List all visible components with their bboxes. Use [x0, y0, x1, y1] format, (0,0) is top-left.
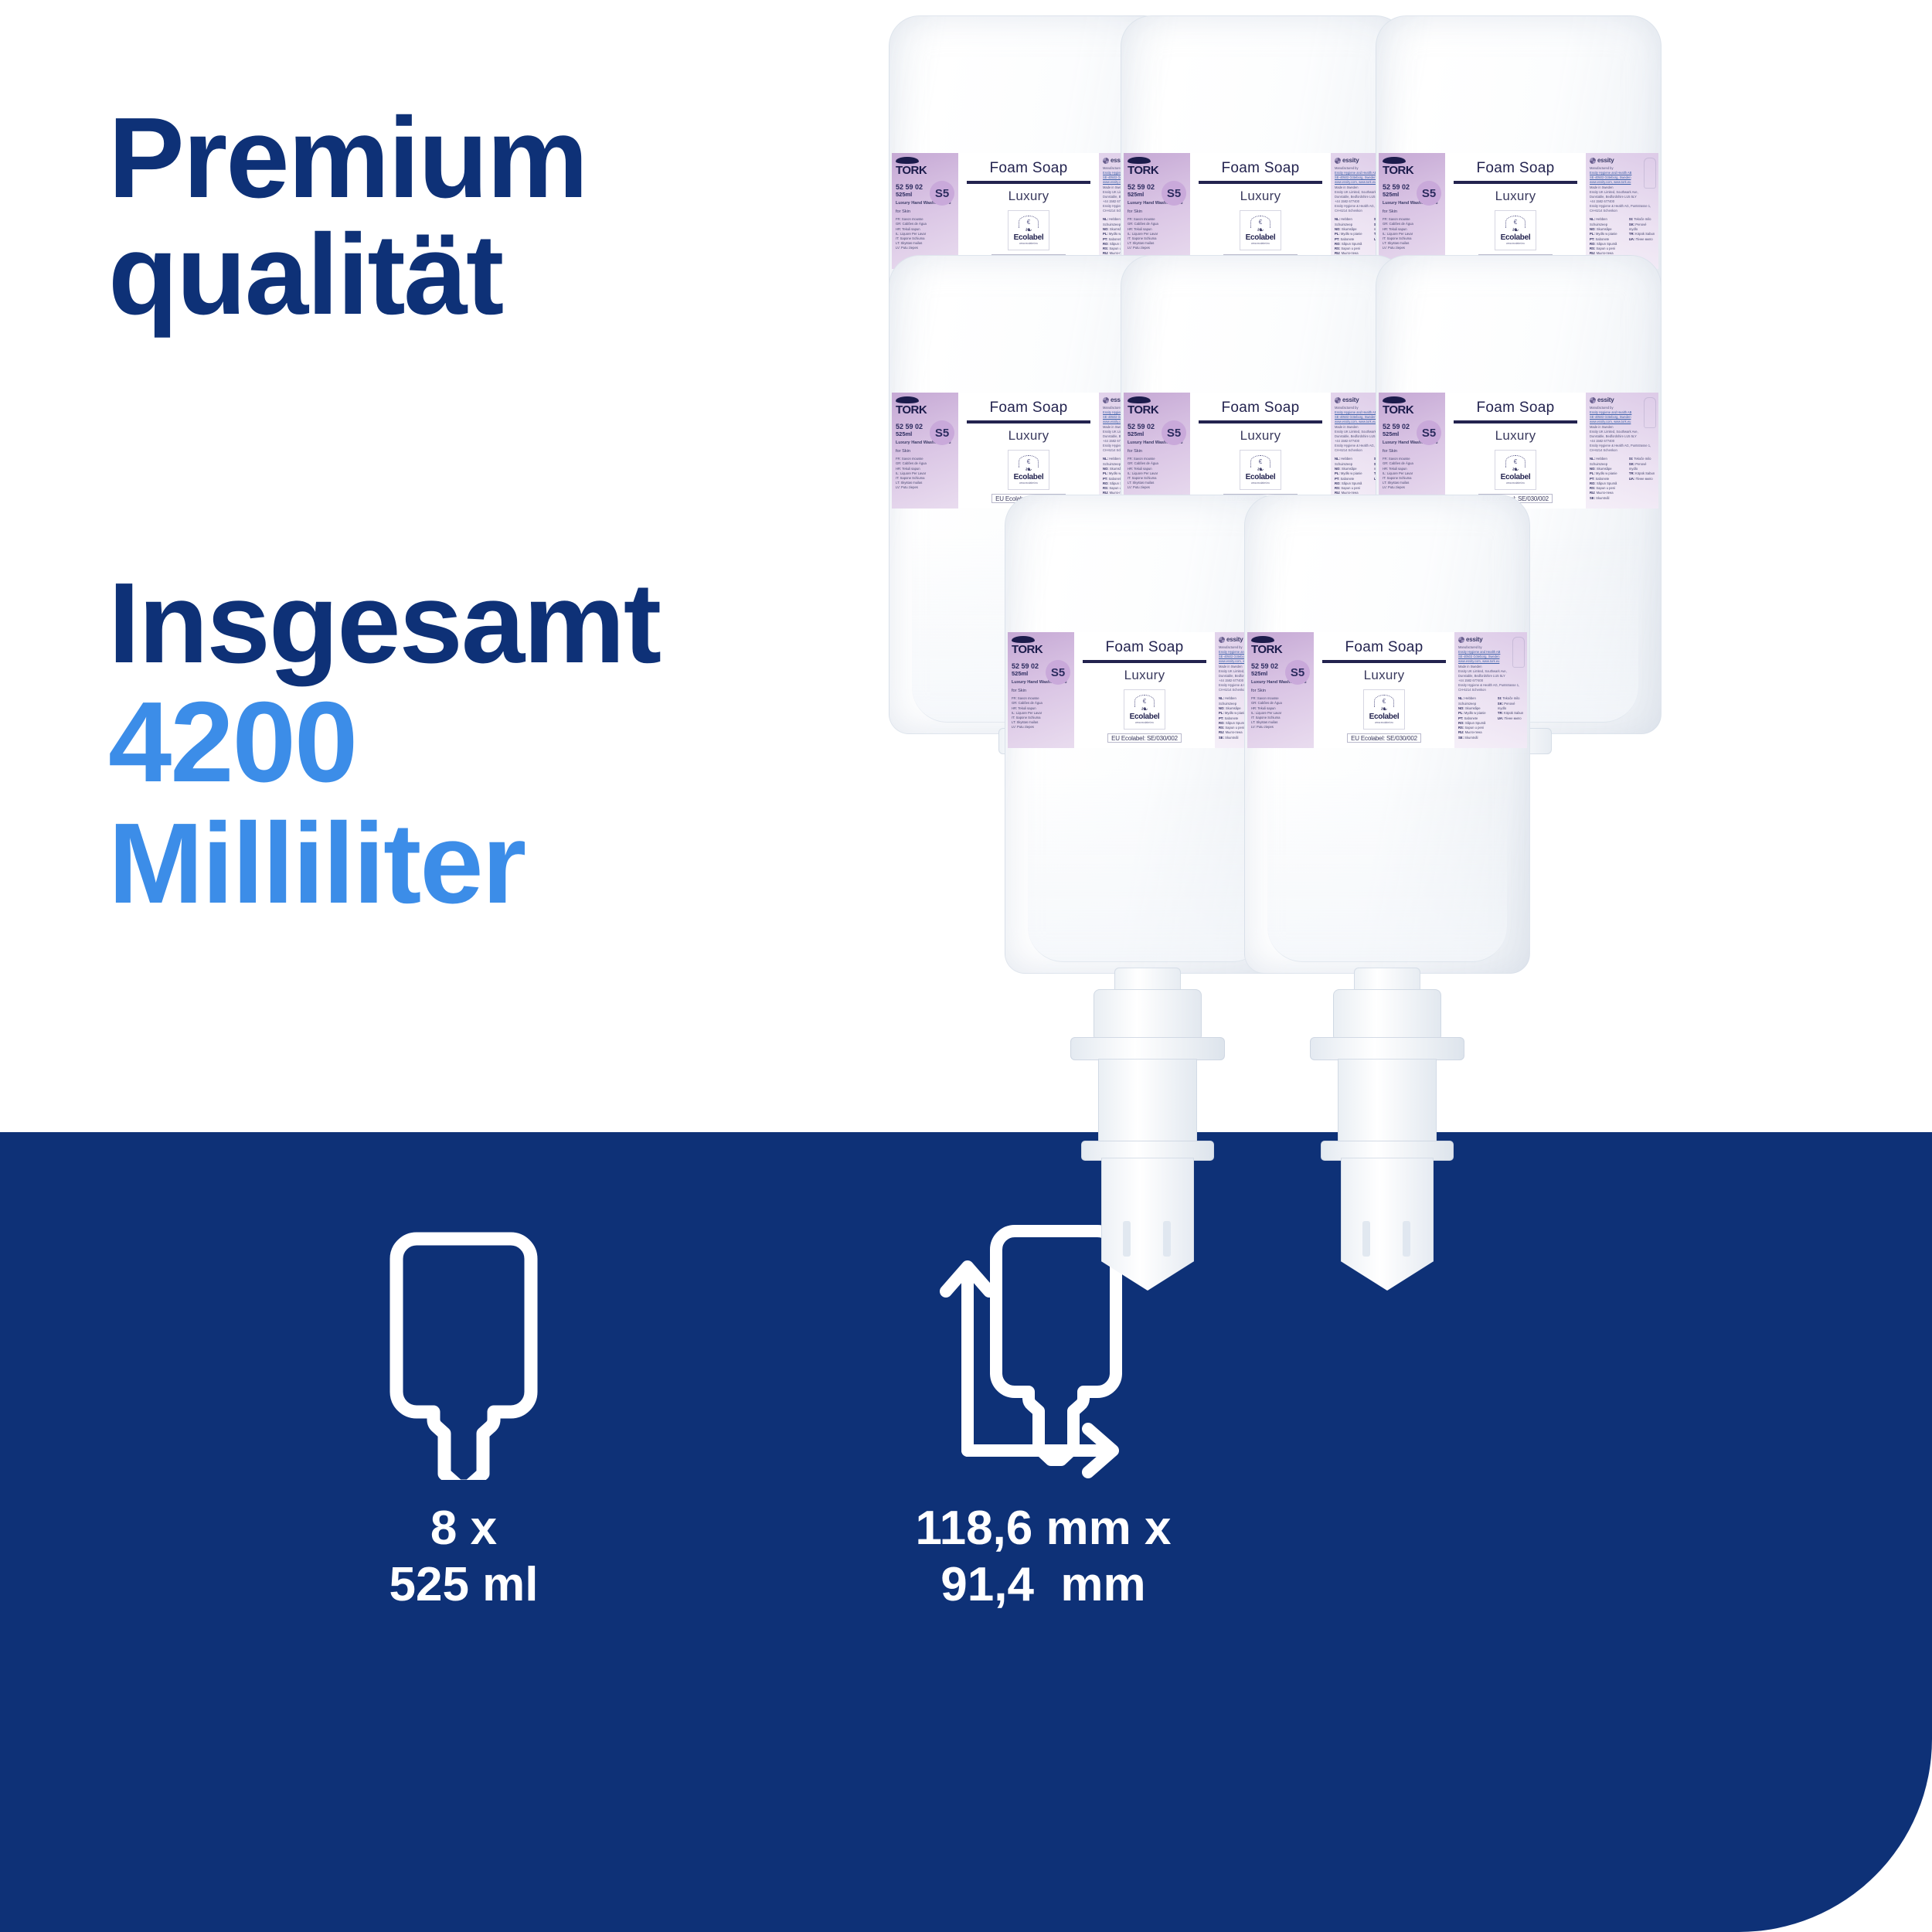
- essity-mark-icon: [1590, 397, 1596, 403]
- label-use-line: for Skin: [1012, 689, 1071, 694]
- eu-ecolabel-icon: € ❧ Ecolabel www.ecolabel.eu: [1008, 210, 1049, 250]
- pump-tip: [1341, 1158, 1434, 1291]
- ecolabel-wordmark: Ecolabel: [1501, 233, 1531, 242]
- label-product-variant: Luxury: [1124, 668, 1165, 683]
- ecolabel-url: www.ecolabel.eu: [1251, 481, 1270, 485]
- label-bottle-silhouette-icon: [1512, 637, 1525, 668]
- label-product-variant: Luxury: [1240, 189, 1281, 204]
- pump-slot-left: [1123, 1221, 1131, 1257]
- label-divider: [1083, 660, 1206, 663]
- label-product-variant: Luxury: [1009, 428, 1049, 444]
- product-label: TORK 52 59 02 525ml Luxury Hand Washing …: [1124, 393, 1403, 509]
- ecolabel-leaf-icon: ❧: [1025, 467, 1032, 474]
- label-product-title: Foam Soap: [1106, 639, 1184, 656]
- label-right-panel: essity Manufactured byEssity Hygiene and…: [1586, 153, 1658, 269]
- essity-wordmark: essity: [1342, 157, 1359, 164]
- tork-brand-logo: TORK: [1383, 165, 1442, 176]
- ecolabel-leaf-icon: ❧: [1257, 227, 1264, 234]
- essity-mark-icon: [1590, 158, 1596, 164]
- ecolabel-leaf-icon: ❧: [1512, 227, 1519, 234]
- pump-slot-left: [1362, 1221, 1370, 1257]
- headline-qualitaet: qualität: [108, 217, 850, 334]
- ecolabel-wordmark: Ecolabel: [1014, 473, 1044, 481]
- label-languages-left: FR: Savon mousseGR: Cabões de ÁguaHR: Te…: [1251, 696, 1311, 730]
- pump-dispenser: [1310, 989, 1464, 1291]
- product-bottle-group: TORK 52 59 02 525ml Luxury Hand Washing …: [889, 15, 1917, 1097]
- label-ecolabel-code: EU Ecolabel: SE/030/002: [1107, 733, 1182, 743]
- label-product-title: Foam Soap: [990, 400, 1068, 417]
- tork-brand-logo: TORK: [1383, 404, 1442, 416]
- ecolabel-url: www.ecolabel.eu: [1506, 242, 1525, 245]
- label-left-panel: TORK 52 59 02 525ml Luxury Hand Washing …: [1124, 153, 1190, 269]
- label-use-line: for Skin: [896, 209, 955, 215]
- tork-brand-logo: TORK: [896, 404, 955, 416]
- essity-wordmark: essity: [1597, 396, 1614, 403]
- label-system-badge: S5: [1285, 660, 1310, 685]
- tork-swoosh-icon: [1012, 636, 1035, 643]
- bottle-icon-wrap: [286, 1225, 641, 1480]
- label-product-title: Foam Soap: [1345, 639, 1423, 656]
- tork-swoosh-icon: [1128, 157, 1151, 164]
- label-use-line: for Skin: [1128, 449, 1187, 454]
- label-product-title: Foam Soap: [1222, 160, 1300, 177]
- product-label: TORK 52 59 02 525ml Luxury Hand Washing …: [1379, 393, 1658, 509]
- tork-brand-logo: TORK: [1128, 404, 1187, 416]
- tork-brand-logo: TORK: [1251, 644, 1311, 655]
- ecolabel-leaf-icon: ❧: [1512, 467, 1519, 474]
- tork-swoosh-icon: [1383, 157, 1406, 164]
- label-use-line: for Skin: [896, 449, 955, 454]
- essity-mark-icon: [1335, 397, 1341, 403]
- feature-quantity-caption: 8 x 525 ml: [286, 1500, 641, 1613]
- tork-swoosh-icon: [1251, 636, 1274, 643]
- label-left-panel: TORK 52 59 02 525ml Luxury Hand Washing …: [1379, 153, 1445, 269]
- label-languages-right: NL: Hebben SchuimzeepNO: SkumsåpePL: Myd…: [1590, 457, 1655, 501]
- label-divider: [1199, 181, 1322, 184]
- tork-brand-logo: TORK: [896, 165, 955, 176]
- label-languages-left: FR: Savon mousseGR: Cabões de ÁguaHR: Te…: [896, 457, 955, 490]
- product-label: TORK 52 59 02 525ml Luxury Hand Washing …: [1247, 632, 1527, 748]
- essity-mark-icon: [1103, 397, 1109, 403]
- ecolabel-url: www.ecolabel.eu: [1019, 242, 1038, 245]
- eu-ecolabel-icon: € ❧ Ecolabel www.ecolabel.eu: [1008, 450, 1049, 490]
- pump-collar: [1333, 989, 1441, 1042]
- label-languages-right: NL: Hebben SchuimzeepNO: SkumsåpePL: Myd…: [1458, 696, 1524, 740]
- essity-mark-icon: [1103, 158, 1109, 164]
- headline-unit: Milliliter: [108, 804, 850, 925]
- ecolabel-wordmark: Ecolabel: [1014, 233, 1044, 242]
- ecolabel-leaf-icon: ❧: [1380, 706, 1387, 713]
- label-left-panel: TORK 52 59 02 525ml Luxury Hand Washing …: [1379, 393, 1445, 509]
- product-bottle: TORK 52 59 02 525ml Luxury Hand Washing …: [1244, 495, 1530, 974]
- ecolabel-wordmark: Ecolabel: [1130, 713, 1160, 721]
- label-use-line: for Skin: [1383, 449, 1442, 454]
- label-languages-left: FR: Savon mousseGR: Cabões de ÁguaHR: Te…: [896, 217, 955, 250]
- tork-swoosh-icon: [896, 396, 919, 403]
- label-bottle-silhouette-icon: [1644, 397, 1656, 428]
- label-product-variant: Luxury: [1364, 668, 1405, 683]
- label-product-variant: Luxury: [1240, 428, 1281, 444]
- label-divider: [1454, 181, 1577, 184]
- ecolabel-wordmark: Ecolabel: [1369, 713, 1400, 721]
- essity-wordmark: essity: [1466, 636, 1482, 643]
- ecolabel-leaf-icon: ❧: [1025, 227, 1032, 234]
- label-divider: [1322, 660, 1446, 663]
- label-center-panel: Foam Soap Luxury € ❧ Ecolabel www.ecolab…: [958, 153, 1099, 269]
- ecolabel-url: www.ecolabel.eu: [1375, 721, 1393, 724]
- label-use-line: for Skin: [1251, 689, 1311, 694]
- label-center-panel: Foam Soap Luxury € ❧ Ecolabel www.ecolab…: [1190, 393, 1331, 509]
- bottle-icon: [383, 1225, 545, 1480]
- label-languages-left: FR: Savon mousseGR: Cabões de ÁguaHR: Te…: [1383, 217, 1442, 250]
- headline-copy-block: Premium qualität Insgesamt 4200 Millilit…: [108, 100, 850, 925]
- essity-mark-icon: [1335, 158, 1341, 164]
- essity-wordmark: essity: [1226, 636, 1243, 643]
- label-left-panel: TORK 52 59 02 525ml Luxury Hand Washing …: [892, 153, 958, 269]
- label-product-title: Foam Soap: [1477, 160, 1555, 177]
- eu-ecolabel-icon: € ❧ Ecolabel www.ecolabel.eu: [1363, 689, 1405, 730]
- bottle-shoulder: [1267, 769, 1507, 962]
- ecolabel-wordmark: Ecolabel: [1246, 473, 1276, 481]
- feature-dimensions-caption: 118,6 mm x 91,4 mm: [835, 1500, 1252, 1613]
- tork-brand-logo: TORK: [1012, 644, 1071, 655]
- label-system-badge: S5: [1046, 660, 1070, 685]
- label-use-line: for Skin: [1128, 209, 1187, 215]
- ecolabel-url: www.ecolabel.eu: [1251, 242, 1270, 245]
- label-languages-left: FR: Savon mousseGR: Cabões de ÁguaHR: Te…: [1128, 217, 1187, 250]
- label-product-variant: Luxury: [1495, 428, 1536, 444]
- essity-wordmark: essity: [1342, 396, 1359, 403]
- label-left-panel: TORK 52 59 02 525ml Luxury Hand Washing …: [1247, 632, 1314, 748]
- bottom-navy-panel: 8 x 525 ml 118,6 mm x 91,4 mm: [0, 1132, 1932, 1932]
- label-product-title: Foam Soap: [1477, 400, 1555, 417]
- pump-barrel: [1098, 1059, 1197, 1144]
- headline-amount: 4200: [108, 682, 850, 804]
- product-label: TORK 52 59 02 525ml Luxury Hand Washing …: [1124, 153, 1403, 269]
- top-white-panel: Premium qualität Insgesamt 4200 Millilit…: [0, 0, 1932, 1132]
- label-product-variant: Luxury: [1009, 189, 1049, 204]
- tork-swoosh-icon: [1128, 396, 1151, 403]
- pump-slot-right: [1403, 1221, 1410, 1257]
- label-divider: [967, 420, 1090, 423]
- eu-ecolabel-icon: € ❧ Ecolabel www.ecolabel.eu: [1240, 450, 1281, 490]
- label-system-badge: S5: [930, 181, 954, 206]
- essity-mark-icon: [1458, 637, 1464, 643]
- ecolabel-leaf-icon: ❧: [1257, 467, 1264, 474]
- label-product-title: Foam Soap: [1222, 400, 1300, 417]
- label-divider: [967, 181, 1090, 184]
- eu-ecolabel-icon: € ❧ Ecolabel www.ecolabel.eu: [1495, 210, 1536, 250]
- label-bottle-silhouette-icon: [1644, 158, 1656, 189]
- label-product-title: Foam Soap: [990, 160, 1068, 177]
- pump-dispenser: [1070, 989, 1225, 1291]
- tork-swoosh-icon: [1383, 396, 1406, 403]
- ecolabel-wordmark: Ecolabel: [1246, 233, 1276, 242]
- label-system-badge: S5: [1417, 181, 1441, 206]
- label-ecolabel-code: EU Ecolabel: SE/030/002: [1347, 733, 1421, 743]
- label-center-panel: Foam Soap Luxury € ❧ Ecolabel www.ecolab…: [1074, 632, 1215, 748]
- label-system-badge: S5: [1417, 420, 1441, 445]
- tork-brand-logo: TORK: [1128, 165, 1187, 176]
- tork-swoosh-icon: [896, 157, 919, 164]
- label-center-panel: Foam Soap Luxury € ❧ Ecolabel www.ecolab…: [1190, 153, 1331, 269]
- ecolabel-url: www.ecolabel.eu: [1135, 721, 1154, 724]
- label-left-panel: TORK 52 59 02 525ml Luxury Hand Washing …: [1124, 393, 1190, 509]
- essity-wordmark: essity: [1597, 157, 1614, 164]
- label-divider: [1454, 420, 1577, 423]
- label-system-badge: S5: [1162, 420, 1186, 445]
- label-right-panel: essity Manufactured byEssity Hygiene and…: [1454, 632, 1527, 748]
- product-label: TORK 52 59 02 525ml Luxury Hand Washing …: [1379, 153, 1658, 269]
- label-left-panel: TORK 52 59 02 525ml Luxury Hand Washing …: [1008, 632, 1074, 748]
- label-right-panel: essity Manufactured byEssity Hygiene and…: [1586, 393, 1658, 509]
- label-center-panel: Foam Soap Luxury € ❧ Ecolabel www.ecolab…: [958, 393, 1099, 509]
- headline-insgesamt: Insgesamt: [108, 566, 850, 682]
- label-system-badge: S5: [930, 420, 954, 445]
- ecolabel-leaf-icon: ❧: [1141, 706, 1148, 713]
- label-center-panel: Foam Soap Luxury € ❧ Ecolabel www.ecolab…: [1445, 153, 1586, 269]
- pump-barrel: [1338, 1059, 1437, 1144]
- pump-tip: [1101, 1158, 1194, 1291]
- essity-mark-icon: [1219, 637, 1225, 643]
- pump-collar: [1094, 989, 1202, 1042]
- eu-ecolabel-icon: € ❧ Ecolabel www.ecolabel.eu: [1240, 210, 1281, 250]
- pump-flange-upper: [1310, 1037, 1464, 1060]
- label-languages-left: FR: Savon mousseGR: Cabões de ÁguaHR: Te…: [1012, 696, 1071, 730]
- headline-premium: Premium: [108, 100, 850, 217]
- ecolabel-url: www.ecolabel.eu: [1506, 481, 1525, 485]
- label-product-variant: Luxury: [1495, 189, 1536, 204]
- label-use-line: for Skin: [1383, 209, 1442, 215]
- label-languages-left: FR: Savon mousseGR: Cabões de ÁguaHR: Te…: [1128, 457, 1187, 490]
- pump-flange-upper: [1070, 1037, 1225, 1060]
- pump-slot-right: [1163, 1221, 1171, 1257]
- label-center-panel: Foam Soap Luxury € ❧ Ecolabel www.ecolab…: [1445, 393, 1586, 509]
- label-center-panel: Foam Soap Luxury € ❧ Ecolabel www.ecolab…: [1314, 632, 1454, 748]
- bottle-shoulder: [1028, 769, 1267, 962]
- label-left-panel: TORK 52 59 02 525ml Luxury Hand Washing …: [892, 393, 958, 509]
- ecolabel-url: www.ecolabel.eu: [1019, 481, 1038, 485]
- feature-quantity: 8 x 525 ml: [286, 1225, 641, 1613]
- eu-ecolabel-icon: € ❧ Ecolabel www.ecolabel.eu: [1495, 450, 1536, 490]
- label-languages-left: FR: Savon mousseGR: Cabões de ÁguaHR: Te…: [1383, 457, 1442, 490]
- label-system-badge: S5: [1162, 181, 1186, 206]
- ecolabel-wordmark: Ecolabel: [1501, 473, 1531, 481]
- label-divider: [1199, 420, 1322, 423]
- eu-ecolabel-icon: € ❧ Ecolabel www.ecolabel.eu: [1124, 689, 1165, 730]
